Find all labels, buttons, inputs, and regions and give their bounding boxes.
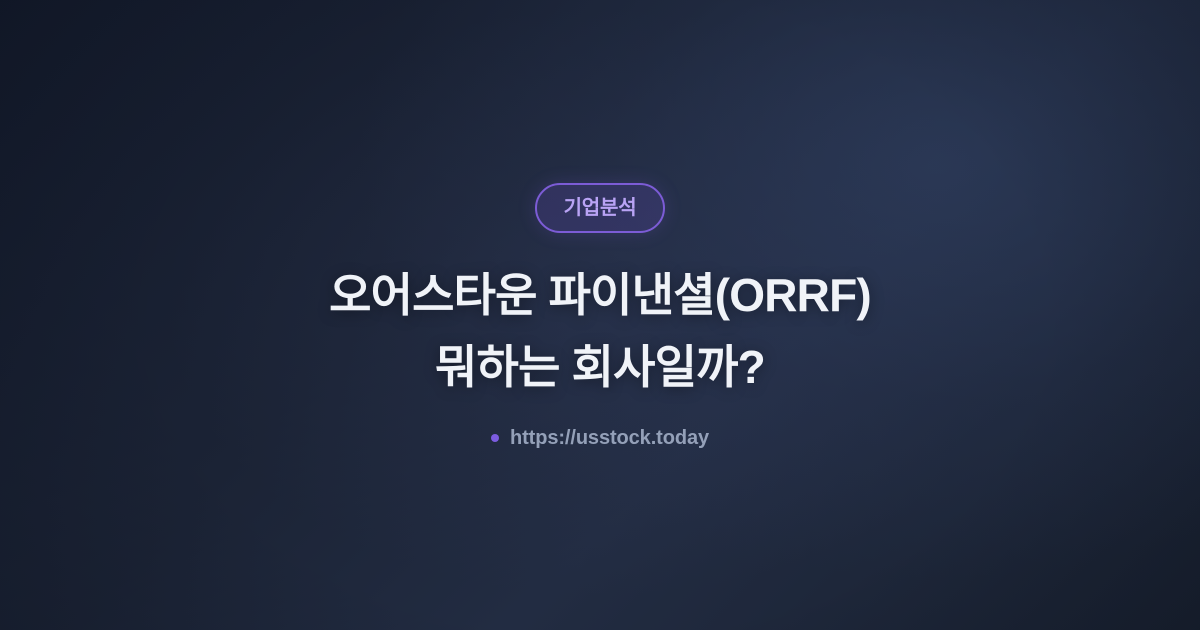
bullet-dot-icon <box>491 434 499 442</box>
card-content: 기업분석 오어스타운 파이낸셜(ORRF) 뭐하는 회사일까? https://… <box>0 0 1200 630</box>
card-footer: https://usstock.today <box>491 428 709 448</box>
card-title-line-1: 오어스타운 파이낸셜(ORRF) <box>329 259 871 331</box>
card-title-line-2: 뭐하는 회사일까? <box>329 331 871 403</box>
category-badge-label: 기업분석 <box>564 198 637 218</box>
card-title: 오어스타운 파이낸셜(ORRF) 뭐하는 회사일까? <box>329 259 871 403</box>
category-badge: 기업분석 <box>535 183 666 233</box>
og-share-card: 기업분석 오어스타운 파이낸셜(ORRF) 뭐하는 회사일까? https://… <box>0 0 1200 630</box>
site-url-label: https://usstock.today <box>510 428 709 448</box>
